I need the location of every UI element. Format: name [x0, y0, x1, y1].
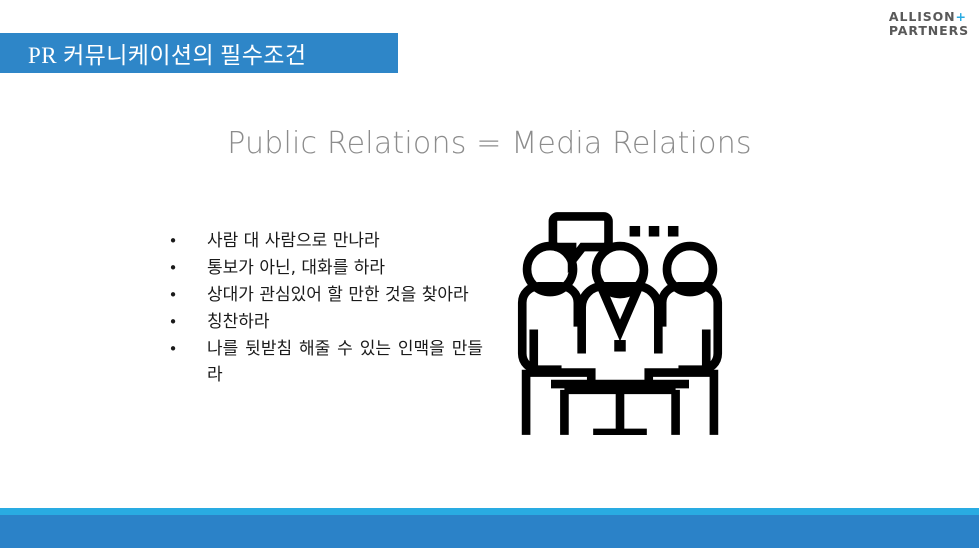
- bullet-marker-icon: •: [168, 228, 178, 254]
- bullet-item-label: 상대가 관심있어 할 만한 것을 찾아라: [207, 282, 483, 308]
- slide-title-bar: PR 커뮤니케이션의 필수조건: [0, 33, 398, 73]
- brand-logo-line-1: ALLISON+: [889, 10, 969, 24]
- bullet-item: •사람 대 사람으로 만나라: [163, 228, 483, 254]
- brand-logo: ALLISON+ PARTNERS: [889, 10, 969, 38]
- dot-1-icon: [630, 226, 641, 237]
- bullet-marker-icon: •: [168, 282, 178, 308]
- bullet-item: •나를 뒷받침 해줄 수 있는 인맥을 만들라: [163, 336, 483, 388]
- bullet-item-label: 나를 뒷받침 해줄 수 있는 인맥을 만들라: [207, 336, 483, 388]
- bullet-item-label: 통보가 아닌, 대화를 하라: [207, 255, 483, 281]
- bullet-item: •칭찬하라: [163, 309, 483, 335]
- bullet-list: •사람 대 사람으로 만나라•통보가 아닌, 대화를 하라•상대가 관심있어 할…: [163, 228, 483, 389]
- headline-text: Public Relations = Media Relations: [0, 126, 979, 161]
- brand-logo-allison-text: ALLISON: [889, 9, 956, 24]
- tie-square-icon: [614, 340, 626, 352]
- dot-2-icon: [649, 226, 660, 237]
- bottom-band: [0, 515, 979, 548]
- bullet-item-label: 칭찬하라: [207, 309, 483, 335]
- brand-logo-plus-icon: +: [956, 9, 967, 24]
- bullet-marker-icon: •: [168, 309, 178, 335]
- dot-3-icon: [668, 226, 679, 237]
- bullet-item: •상대가 관심있어 할 만한 것을 찾아라: [163, 282, 483, 308]
- person-left-arm: [522, 353, 561, 369]
- bullet-item: •통보가 아닌, 대화를 하라: [163, 255, 483, 281]
- bottom-accent-stripe: [0, 508, 979, 515]
- brand-logo-line-2: PARTNERS: [889, 24, 969, 38]
- bullet-marker-icon: •: [168, 336, 178, 362]
- slide-title-text: PR 커뮤니케이션의 필수조건: [28, 36, 306, 70]
- bullet-item-label: 사람 대 사람으로 만나라: [207, 228, 483, 254]
- bullet-marker-icon: •: [168, 255, 178, 281]
- meeting-people-icon: [505, 200, 735, 435]
- person-right-arm: [678, 353, 717, 369]
